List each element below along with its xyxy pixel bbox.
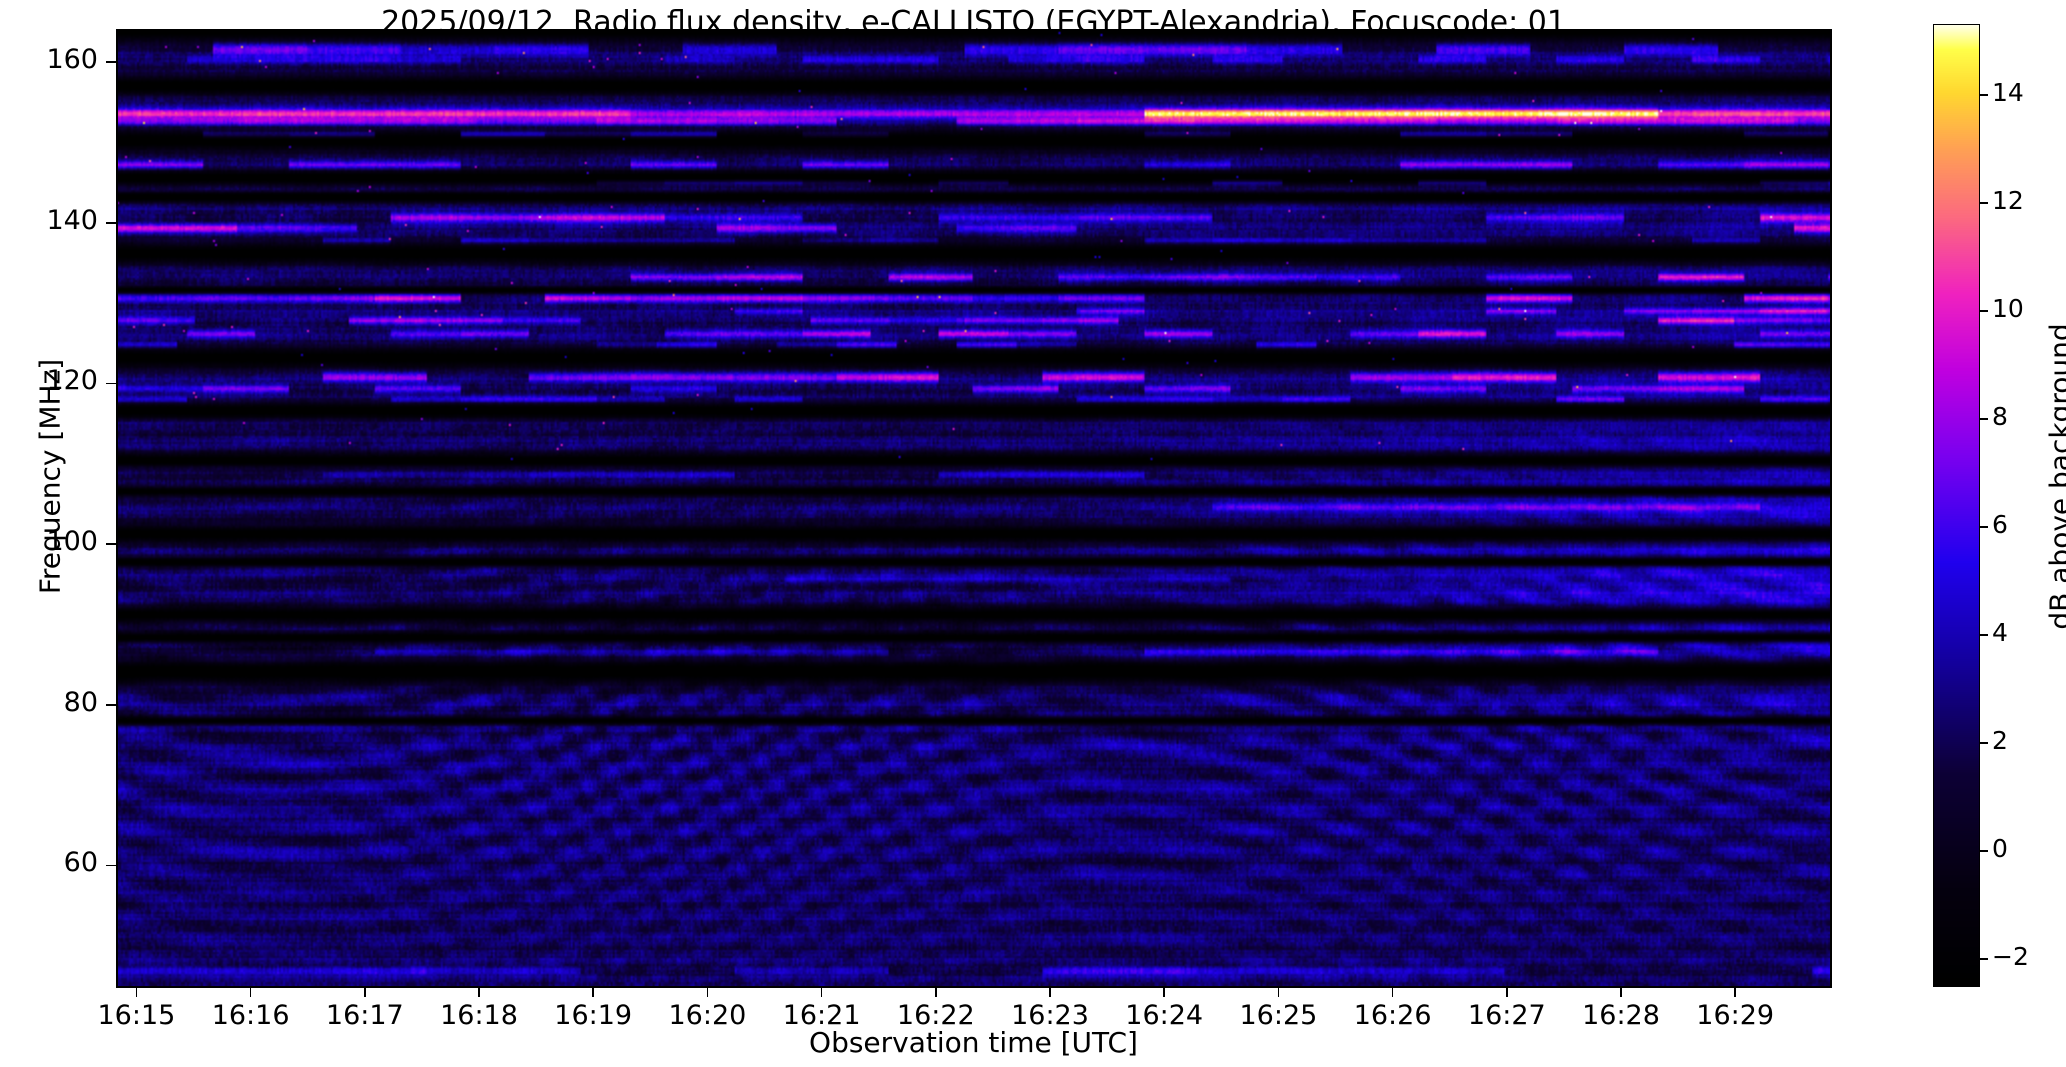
y-tick-mark [106, 704, 116, 706]
y-tick-label: 160 [8, 44, 98, 75]
colorbar-tick-mark [1979, 418, 1988, 420]
colorbar[interactable] [1934, 25, 1979, 986]
y-tick-mark [106, 61, 116, 63]
y-tick-label: 60 [8, 847, 98, 878]
colorbar-label: dB above background [2044, 197, 2066, 757]
axis-spine-left [116, 30, 118, 987]
spectrogram-image [117, 30, 1830, 986]
axis-spine-bottom [116, 986, 1832, 988]
x-tick-mark [1506, 987, 1508, 997]
x-tick-mark [1278, 987, 1280, 997]
y-tick-mark [106, 383, 116, 385]
colorbar-tick-mark [1979, 94, 1988, 96]
x-tick-mark [1163, 987, 1165, 997]
colorbar-tick-label: 14 [1992, 78, 2052, 107]
x-tick-mark [478, 987, 480, 997]
x-tick-mark [1392, 987, 1394, 997]
x-tick-mark [1620, 987, 1622, 997]
colorbar-tick-mark [1979, 634, 1988, 636]
colorbar-tick-mark [1979, 526, 1988, 528]
colorbar-tick-mark [1979, 202, 1988, 204]
colorbar-tick-mark [1979, 310, 1988, 312]
x-tick-mark [935, 987, 937, 997]
colorbar-tick-mark [1979, 958, 1988, 960]
x-axis-label: Observation time [UTC] [117, 1026, 1830, 1059]
y-tick-mark [106, 222, 116, 224]
x-tick-mark [250, 987, 252, 997]
y-tick-mark [106, 865, 116, 867]
x-tick-mark [707, 987, 709, 997]
figure-root: 2025/09/12 Radio flux density, e-CALLIST… [0, 0, 2066, 1067]
x-tick-mark [1049, 987, 1051, 997]
axis-spine-top [116, 29, 1832, 31]
y-tick-mark [106, 543, 116, 545]
x-tick-mark [592, 987, 594, 997]
colorbar-tick-mark [1979, 742, 1988, 744]
x-tick-mark [1734, 987, 1736, 997]
axis-spine-right [1830, 30, 1832, 987]
colorbar-tick-label: −2 [1992, 942, 2052, 971]
spectrogram-plot-area[interactable] [117, 30, 1830, 986]
colorbar-gradient [1934, 25, 1979, 986]
y-axis-label: Frequency [MHz] [34, 197, 67, 757]
colorbar-tick-mark [1979, 850, 1988, 852]
colorbar-tick-label: 0 [1992, 834, 2052, 863]
x-tick-mark [821, 987, 823, 997]
x-tick-mark [136, 987, 138, 997]
x-tick-mark [364, 987, 366, 997]
